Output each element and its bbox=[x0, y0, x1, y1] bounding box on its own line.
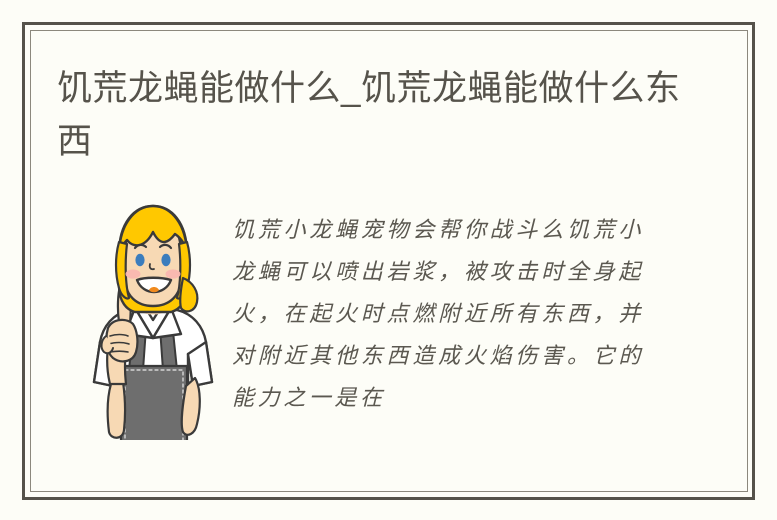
cartoon-woman-pointing-up-illustration bbox=[83, 202, 223, 440]
article-body-text: 饥荒小龙蝇宠物会帮你战斗么饥荒小龙蝇可以喷出岩浆，被攻击时全身起火，在起火时点燃… bbox=[232, 210, 644, 420]
article-page: 饥荒龙蝇能做什么_饥荒龙蝇能做什么东西 bbox=[0, 0, 777, 520]
page-title: 饥荒龙蝇能做什么_饥荒龙蝇能做什么东西 bbox=[57, 62, 697, 168]
article-content: 饥荒小龙蝇宠物会帮你战斗么饥荒小龙蝇可以喷出岩浆，被攻击时全身起火，在起火时点燃… bbox=[57, 196, 697, 446]
cartoon-woman-svg bbox=[83, 202, 223, 440]
